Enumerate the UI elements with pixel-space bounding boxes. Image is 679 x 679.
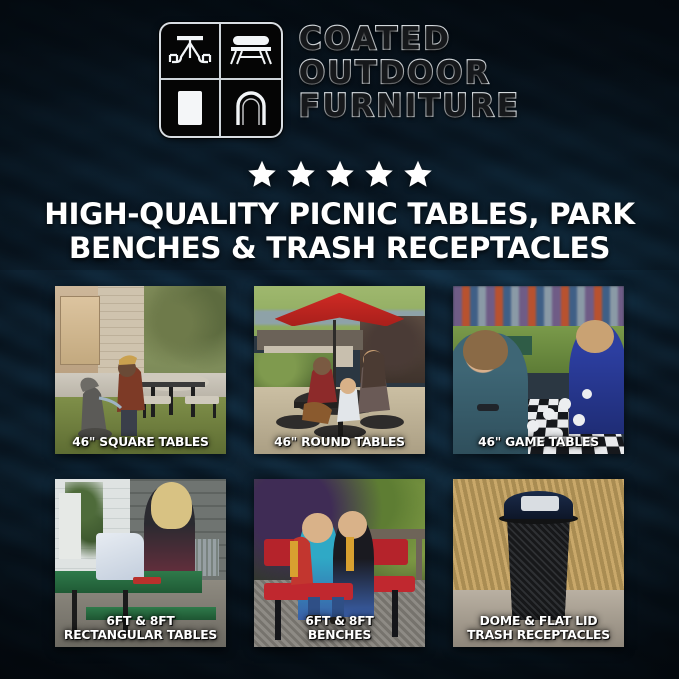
picnic-table-icon	[161, 24, 221, 80]
product-tile-trash-receptacles[interactable]: DOME & FLAT LID TRASH RECEPTACLES	[453, 479, 624, 647]
logo-wordmark: COATED OUTDOOR FURNITURE	[299, 22, 521, 123]
trash-receptacle-icon	[161, 80, 221, 136]
logo-line-1: COATED	[299, 24, 521, 56]
caption-line: TRASH RECEPTACLES	[456, 629, 621, 643]
product-caption-trash-receptacles: DOME & FLAT LID TRASH RECEPTACLES	[453, 615, 624, 643]
product-caption-round-tables: 46" ROUND TABLES	[254, 436, 425, 450]
product-tile-rectangular-tables[interactable]: 6FT & 8FT RECTANGULAR TABLES	[55, 479, 226, 647]
caption-line: 46" ROUND TABLES	[257, 436, 422, 450]
product-poster: COATED OUTDOOR FURNITURE HIGH-QUALITY PI…	[0, 0, 679, 679]
headline-line-1: HIGH-QUALITY PICNIC TABLES, PARK	[40, 198, 639, 232]
product-tile-benches[interactable]: 6FT & 8FT BENCHES	[254, 479, 425, 647]
product-photo-square-tables	[55, 286, 226, 454]
star-rating	[0, 159, 679, 189]
product-caption-square-tables: 46" SQUARE TABLES	[55, 436, 226, 450]
product-tile-square-tables[interactable]: 46" SQUARE TABLES	[55, 286, 226, 454]
headline: HIGH-QUALITY PICNIC TABLES, PARK BENCHES…	[40, 198, 639, 265]
star-icon	[286, 159, 316, 189]
logo-line-3: FURNITURE	[299, 91, 521, 123]
star-icon	[325, 159, 355, 189]
logo-line-2: OUTDOOR	[299, 58, 521, 90]
arch-dome-icon	[221, 80, 281, 136]
headline-line-2: BENCHES & TRASH RECEPTACLES	[40, 232, 639, 266]
brand-header: COATED OUTDOOR FURNITURE	[0, 22, 679, 138]
product-caption-benches: 6FT & 8FT BENCHES	[254, 615, 425, 643]
product-photo-game-tables	[453, 286, 624, 454]
caption-line: RECTANGULAR TABLES	[58, 629, 223, 643]
product-tile-game-tables[interactable]: 46" GAME TABLES	[453, 286, 624, 454]
caption-line: 46" GAME TABLES	[456, 436, 621, 450]
product-photo-round-tables	[254, 286, 425, 454]
star-icon	[364, 159, 394, 189]
star-icon	[403, 159, 433, 189]
product-grid: 46" SQUARE TABLES	[55, 286, 625, 647]
caption-line: 46" SQUARE TABLES	[58, 436, 223, 450]
product-caption-game-tables: 46" GAME TABLES	[453, 436, 624, 450]
product-caption-rectangular-tables: 6FT & 8FT RECTANGULAR TABLES	[55, 615, 226, 643]
star-icon	[247, 159, 277, 189]
park-bench-icon	[221, 24, 281, 80]
caption-line: BENCHES	[257, 629, 422, 643]
logo-mark	[159, 22, 283, 138]
product-tile-round-tables[interactable]: 46" ROUND TABLES	[254, 286, 425, 454]
logo-lockup: COATED OUTDOOR FURNITURE	[159, 22, 521, 138]
